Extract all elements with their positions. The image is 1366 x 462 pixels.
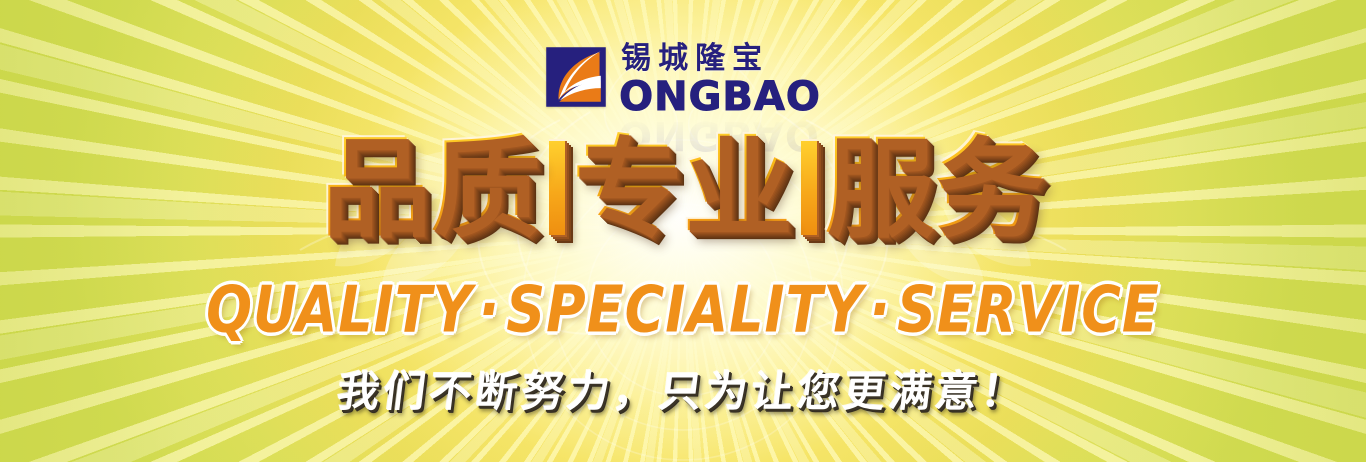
promo-banner: ONGBAO 锡城隆宝 ONGBAO 品质专业服务 QUALITY·SPECIA… xyxy=(0,0,1366,462)
subtitle-word-3: SERVICE xyxy=(897,272,1160,346)
subtitle-word-1: QUALITY xyxy=(206,272,473,346)
subtitle-separator-2: · xyxy=(864,272,898,346)
logo-english-name: ONGBAO xyxy=(619,77,821,117)
headline-word-3: 服务 xyxy=(825,132,1045,245)
headline-3d: 品质专业服务 xyxy=(0,132,1366,245)
subtitle-english: QUALITY·SPECIALITY·SERVICE xyxy=(0,272,1366,346)
headline-separator-2 xyxy=(801,139,817,235)
logo-text-block: 锡城隆宝 ONGBAO xyxy=(619,44,821,117)
logo-chinese-name: 锡城隆宝 xyxy=(621,44,821,74)
headline-word-1: 品质 xyxy=(321,132,541,245)
longbao-sail-logo-icon xyxy=(545,46,607,108)
brand-logo: 锡城隆宝 ONGBAO xyxy=(0,44,1366,117)
headline-word-2: 专业 xyxy=(573,132,793,245)
subtitle-separator-1: · xyxy=(473,272,507,346)
tagline-chinese: 我们不断努力，只为让您更满意！ xyxy=(0,358,1366,419)
subtitle-word-2: SPECIALITY xyxy=(506,272,863,346)
headline-separator-1 xyxy=(549,139,565,235)
